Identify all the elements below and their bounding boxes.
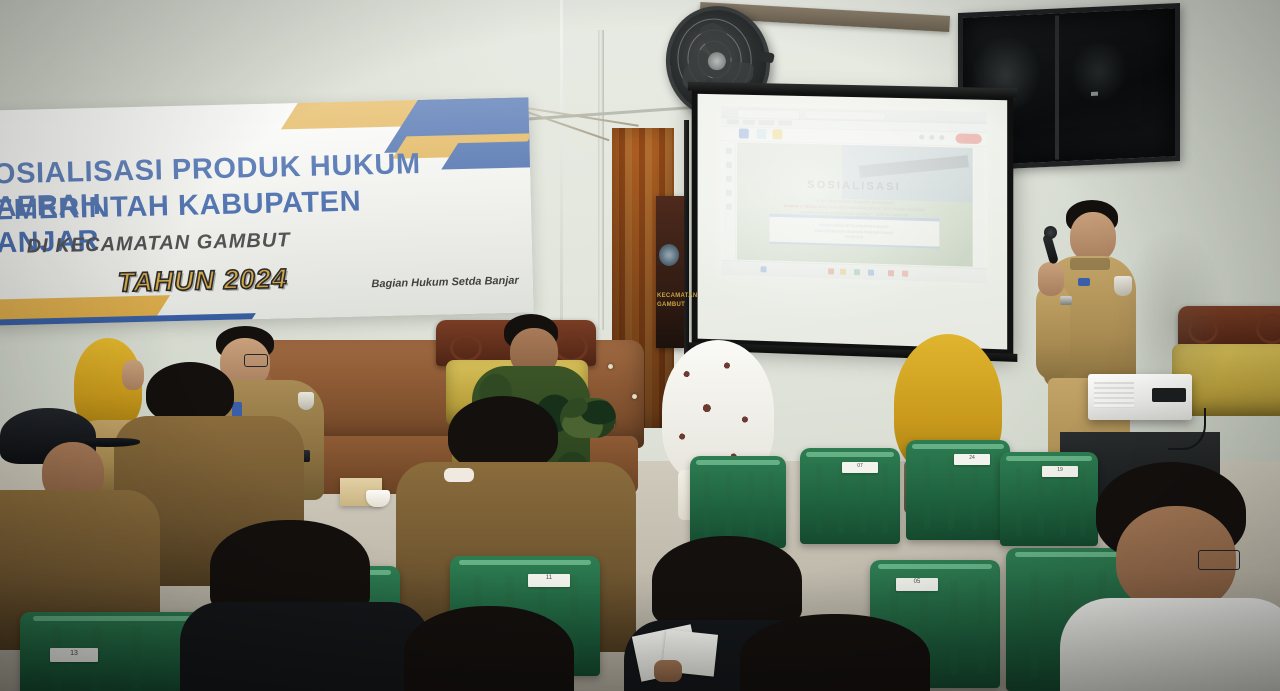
slide-right-panel: [975, 148, 985, 267]
pennant-pole: [684, 120, 689, 360]
pennant-line2: GAMBUT: [657, 301, 683, 310]
menu-item-file[interactable]: [727, 119, 739, 124]
reading-hand: [654, 660, 682, 682]
presenter-hand: [1038, 262, 1064, 296]
window-reflection-2: [1071, 38, 1127, 105]
foreground-hair-bottom: [404, 606, 574, 691]
chair-label: 05: [896, 578, 938, 591]
banner-year: TAHUN 2024: [117, 263, 288, 298]
presenter-collar: [1070, 258, 1110, 270]
chair-label: 07: [842, 462, 878, 473]
event-banner: SOSIALISASI PRODUK HUKUM DAERAH PEMERINT…: [0, 97, 534, 325]
pennant-text: KECAMATAN GAMBUT: [657, 292, 683, 310]
banner-credit: Bagian Hukum Setda Banjar: [371, 275, 519, 291]
microphone-head-icon: [1044, 226, 1057, 239]
slide-footer-box: BAGIAN HUKUM SETDA KABUPATEN BANJAR DINA…: [770, 213, 940, 249]
white-shirt-right: [1060, 598, 1280, 691]
menu-item-edit[interactable]: [743, 120, 755, 125]
ceremonial-pennant: KECAMATAN GAMBUT: [656, 196, 684, 348]
presenter-head: [1070, 212, 1116, 262]
projector-ports: [1152, 388, 1186, 402]
foreground-attendee-bottom: [404, 606, 584, 691]
foreground-attendee-right: [1060, 462, 1280, 691]
foreground-attendee-bottom-right: [740, 614, 940, 691]
address-bar[interactable]: [804, 110, 886, 121]
foreground-attendee-dark-left: [190, 520, 420, 691]
screen-surface: SOSIALISASI PERATURAN BUPATI KABUPATEN B…: [698, 94, 1008, 350]
attendee-center-hair: [448, 396, 558, 472]
presenter-wristwatch: [1060, 296, 1072, 305]
pennant-line1: KECAMATAN: [657, 292, 683, 301]
projector-vent: [1094, 382, 1134, 408]
toolbar-chip-logo-2: [772, 129, 782, 139]
browser-tab[interactable]: [737, 109, 800, 120]
toolbar-chip-logo-1: [757, 129, 767, 139]
foreground-hair-bottom-right: [740, 614, 930, 691]
foreground-shoulders-left: [180, 602, 430, 691]
menu-item-insert[interactable]: [778, 120, 792, 125]
green-chair[interactable]: [690, 456, 786, 548]
official-shoulder-patch: [298, 392, 314, 410]
window-latch: [1091, 92, 1098, 96]
foreground-eyeglasses: [1198, 550, 1240, 570]
pennant-seal-icon: [659, 244, 679, 266]
chair-label: 24: [954, 454, 990, 465]
projection-screen: SOSIALISASI PERATURAN BUPATI KABUPATEN B…: [692, 89, 1014, 356]
window-mullion: [1055, 15, 1059, 159]
toolbar-chip-blue: [739, 128, 749, 138]
menu-item-view[interactable]: [759, 120, 775, 125]
coffee-cup: [366, 490, 390, 507]
chair-label: 11: [528, 574, 570, 587]
slide-subtitle-highlight: NOMOR X TAHUN 2023: [784, 204, 827, 209]
slide-left-toolbar: [723, 142, 736, 260]
slide-footer-text: BAGIAN HUKUM SETDA KABUPATEN BANJAR DINA…: [770, 222, 940, 243]
chair-label: 13: [50, 648, 98, 662]
meeting-room-photo: SOSIALISASI PERATURAN BUPATI KABUPATEN B…: [0, 0, 1280, 691]
attendee-with-cap: [0, 408, 170, 638]
attendee-collar-white: [444, 468, 474, 482]
projected-slide: SOSIALISASI PERATURAN BUPATI KABUPATEN B…: [721, 106, 987, 283]
record-button[interactable]: [955, 133, 981, 144]
slide-canvas: SOSIALISASI PERATURAN BUPATI KABUPATEN B…: [737, 142, 973, 266]
presenter-name-tag: [1078, 278, 1090, 286]
wall-conduit: [598, 30, 604, 330]
